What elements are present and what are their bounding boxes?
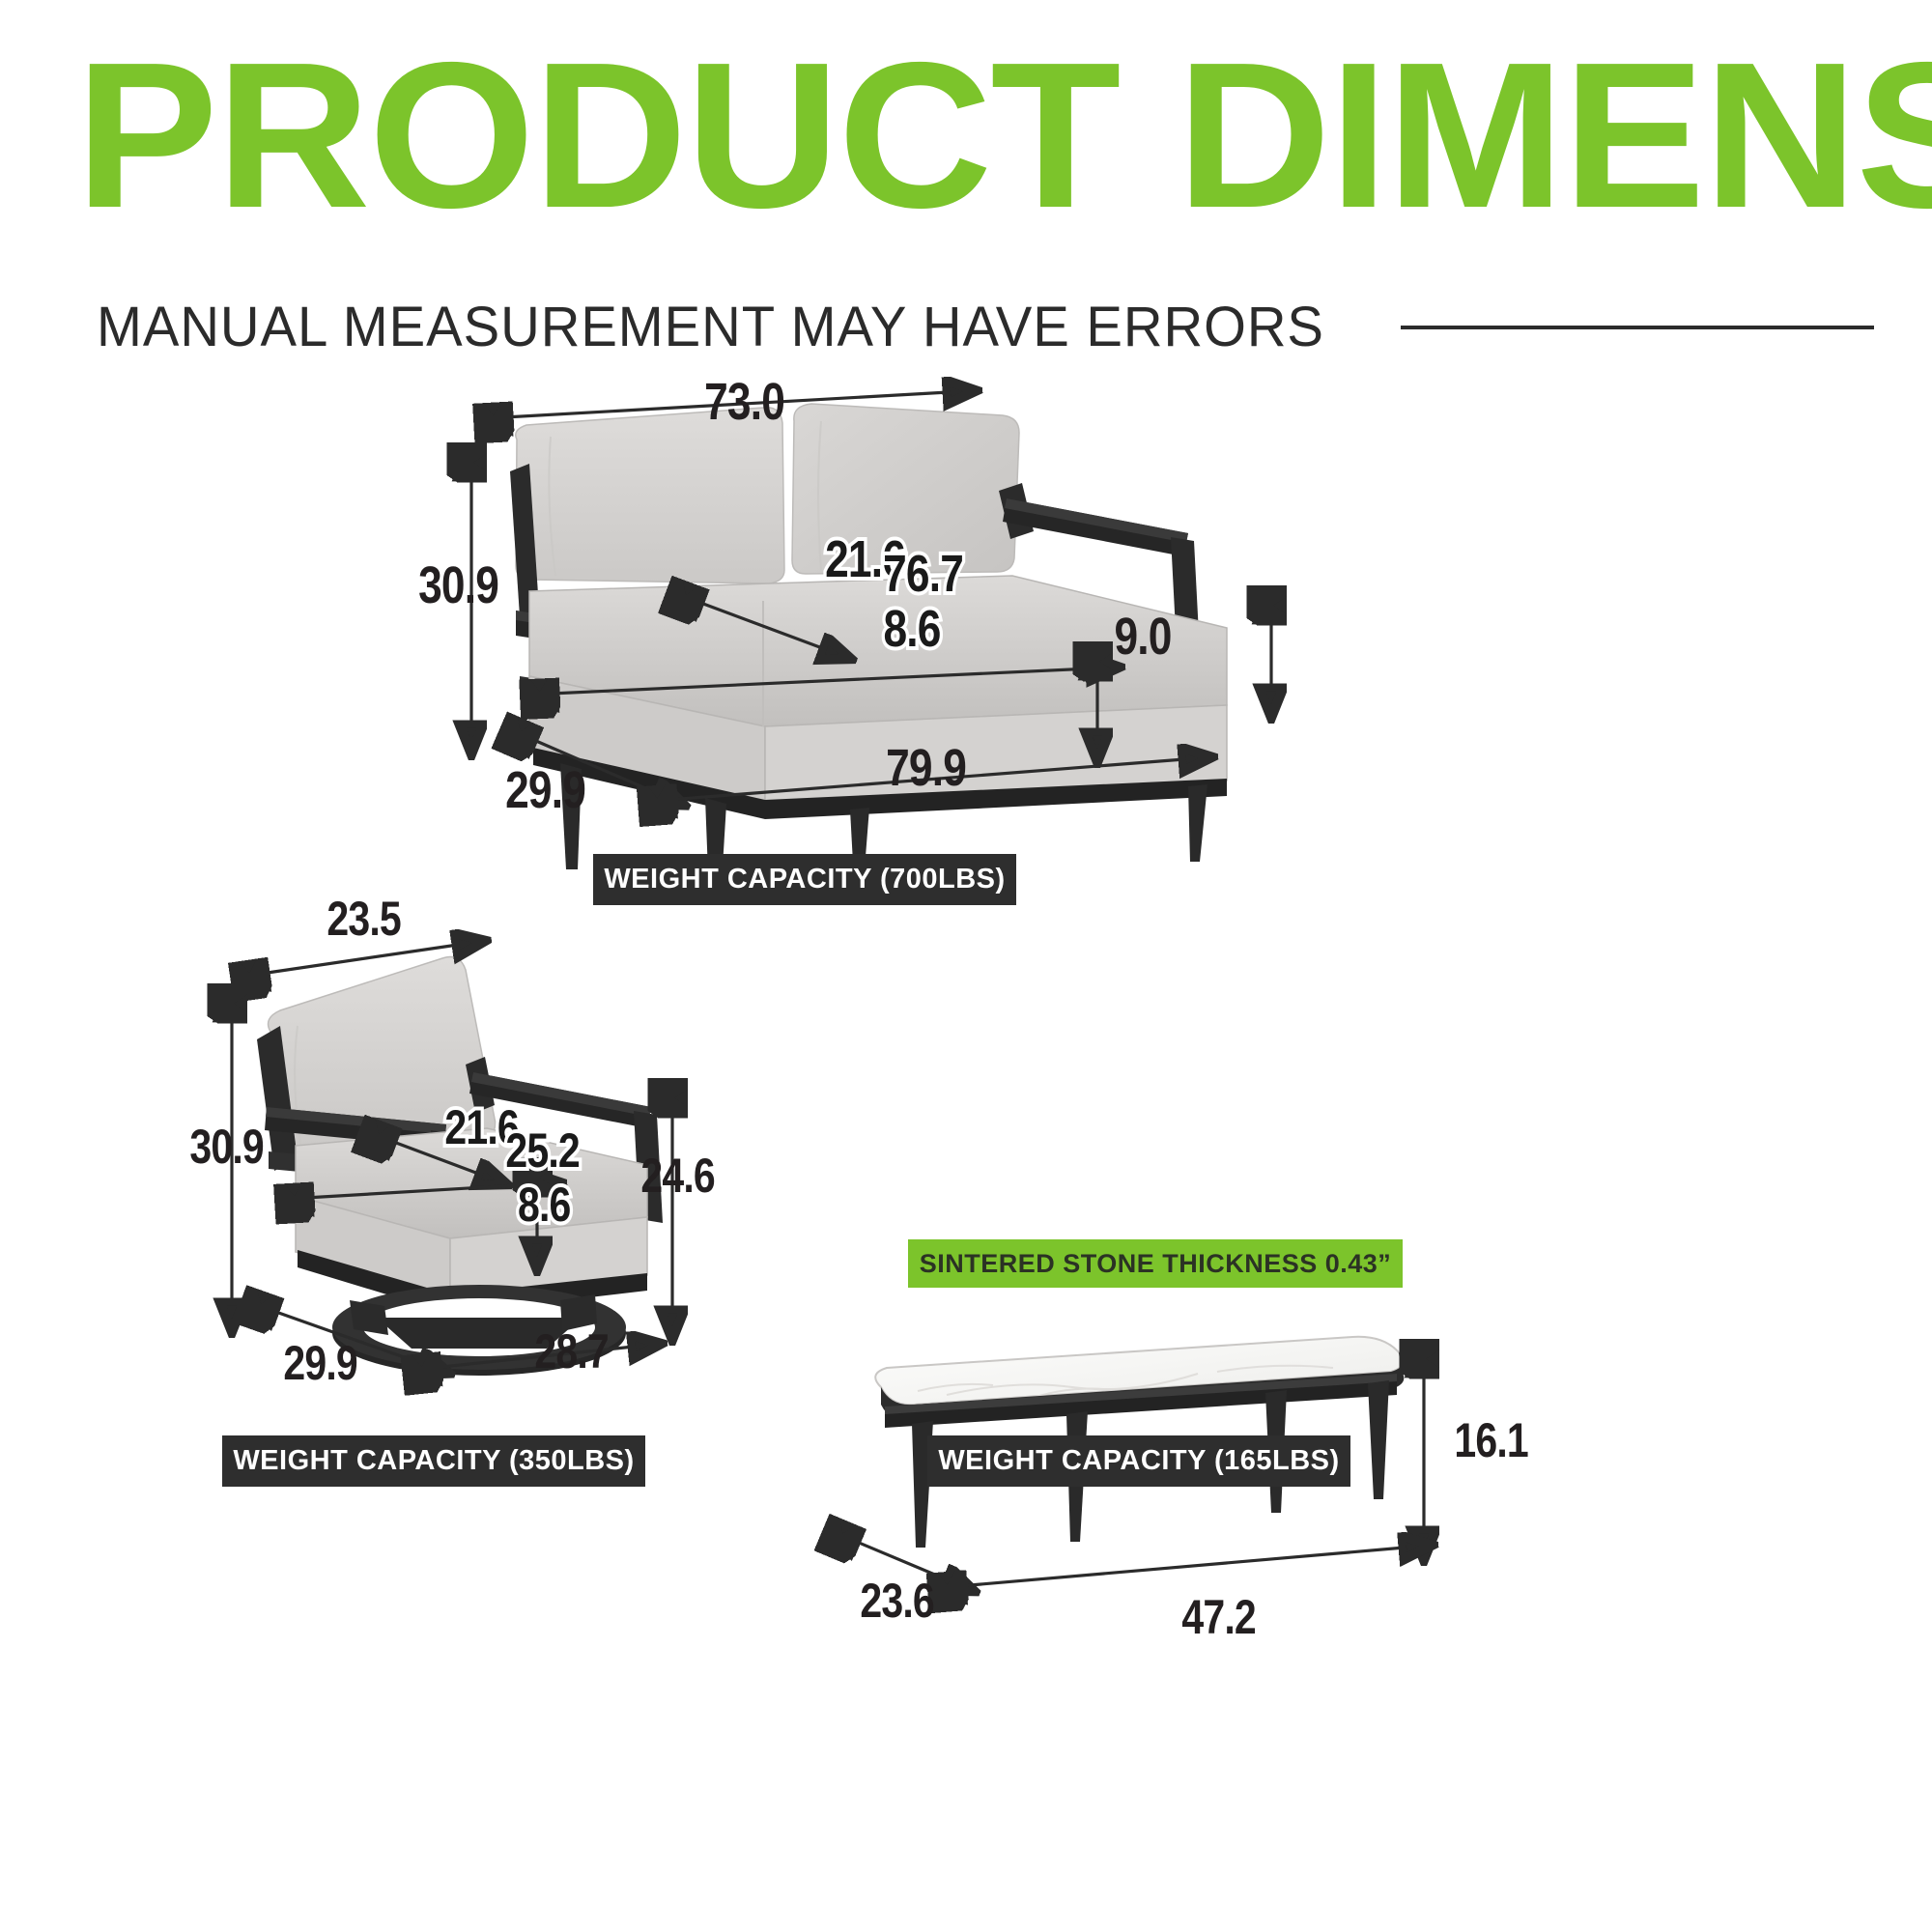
subtitle-divider	[1401, 326, 1874, 329]
dim-sofa-76-7: 76.7	[883, 544, 963, 604]
dim-chair-29-9: 29.9	[283, 1335, 357, 1391]
dim-sofa-30-9: 30.9	[418, 555, 498, 615]
dim-sofa-29-9: 29.9	[505, 760, 585, 820]
dim-table-16-1: 16.1	[1454, 1412, 1528, 1468]
dim-chair-8-6: 8.6	[518, 1177, 571, 1233]
dim-chair-24-6: 24.6	[640, 1148, 715, 1204]
subtitle-text: MANUAL MEASUREMENT MAY HAVE ERRORS	[97, 295, 1324, 359]
dim-chair-30-9: 30.9	[189, 1119, 264, 1175]
dim-chair-28-7: 28.7	[534, 1323, 609, 1379]
header: PRODUCT DIMENSIONS MANUAL MEASUREMENT MA…	[0, 0, 1932, 367]
dim-sofa-8-6: 8.6	[883, 599, 940, 659]
dim-chair-23-5: 23.5	[327, 891, 401, 947]
coffee-table-weight-capacity-badge: WEIGHT CAPACITY (165LBS)	[927, 1435, 1350, 1487]
page-title: PRODUCT DIMENSIONS	[75, 37, 1932, 234]
dim-sofa-79-9: 79.9	[886, 738, 966, 798]
chair-weight-capacity-badge: WEIGHT CAPACITY (350LBS)	[222, 1435, 645, 1487]
dim-sofa-9-0: 9.0	[1114, 607, 1171, 667]
dim-sofa-73-0: 73.0	[704, 372, 784, 432]
dim-table-47-2: 47.2	[1181, 1589, 1256, 1645]
dim-table-23-6: 23.6	[860, 1573, 934, 1629]
sintered-stone-thickness-badge: SINTERED STONE THICKNESS 0.43”	[908, 1239, 1403, 1288]
subtitle-row: MANUAL MEASUREMENT MAY HAVE ERRORS	[97, 295, 1874, 359]
dim-chair-25-2: 25.2	[505, 1122, 580, 1179]
sofa-weight-capacity-badge: WEIGHT CAPACITY (700LBS)	[593, 854, 1016, 905]
